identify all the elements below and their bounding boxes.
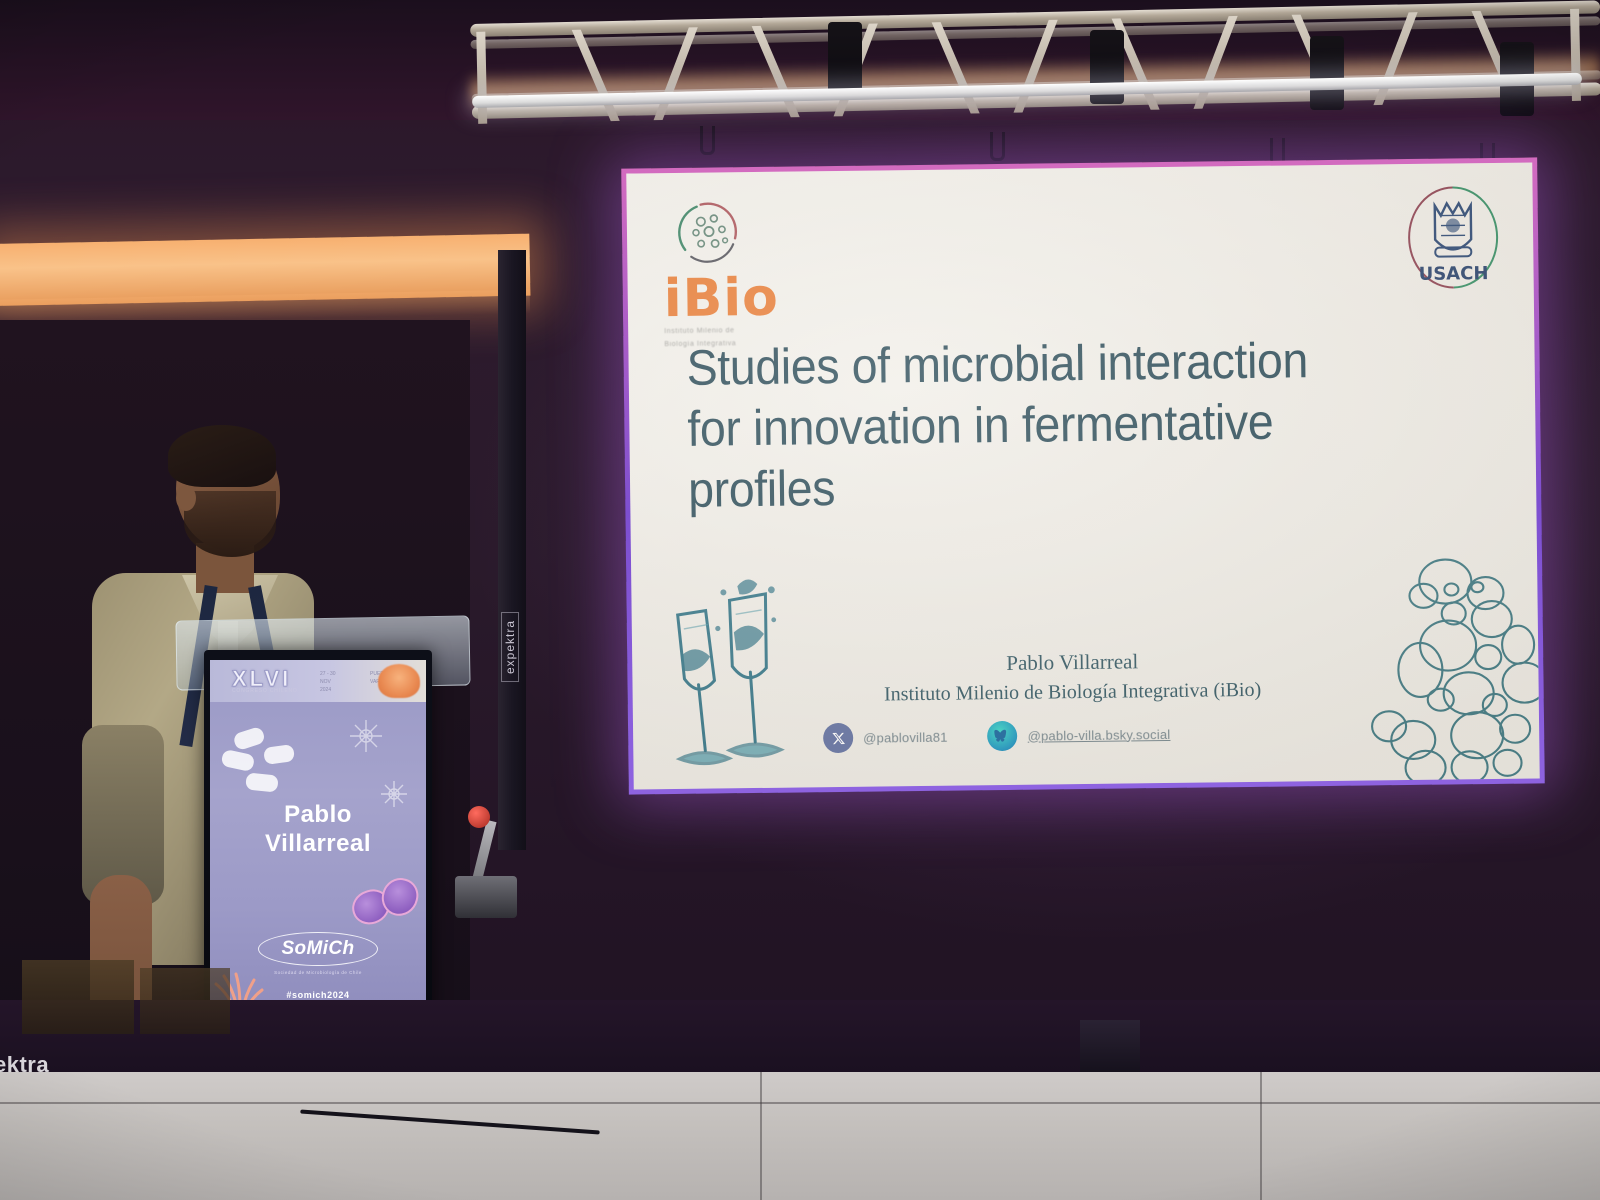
bacteria-cells-icon xyxy=(352,878,416,924)
ibio-wordmark: iBio xyxy=(664,273,835,324)
stage-floor xyxy=(0,1072,1600,1200)
social-x[interactable]: @pablovilla81 xyxy=(823,722,948,754)
truss-clamp xyxy=(828,22,862,96)
pole-lever-knob[interactable] xyxy=(468,806,490,828)
coral-illustration-icon xyxy=(378,664,420,698)
bluesky-handle[interactable]: @pablo-villa.bsky.social xyxy=(1028,726,1171,743)
lower-wall xyxy=(0,1000,1600,1078)
usach-logo: USACH xyxy=(1400,181,1505,298)
usach-wordmark: USACH xyxy=(1419,263,1489,285)
projection-screen-frame: iBio Instituto Milenio de Biología Integ… xyxy=(621,157,1545,794)
expektra-label-text: expektra xyxy=(501,612,519,682)
author-affiliation: Instituto Milenio de Biología Integrativ… xyxy=(812,675,1332,710)
congress-month: NOV xyxy=(320,678,336,686)
slide-title: Studies of microbial interaction for inn… xyxy=(686,329,1432,521)
podium-speaker-name: Pablo Villarreal xyxy=(210,800,426,859)
speaker-beard xyxy=(184,491,276,557)
conference-photo-scene: iBio Instituto Milenio de Biología Integ… xyxy=(0,0,1600,1200)
somich-wordmark: SoMiCh xyxy=(258,932,377,966)
slide-title-line-1: Studies of microbial interaction xyxy=(686,329,1431,399)
ibio-logo: iBio Instituto Milenio de Biología Integ… xyxy=(663,193,835,349)
expektra-pole-label: expektra xyxy=(496,588,524,706)
budding-yeast-cells-icon xyxy=(1327,552,1540,785)
social-handles: @pablovilla81 @pablo-villa.bsky.social xyxy=(823,717,1323,753)
congress-year: 2024 xyxy=(320,686,336,694)
toasting-wine-glasses-icon xyxy=(653,571,816,783)
x-handle[interactable]: @pablovilla81 xyxy=(863,729,948,745)
podium-speaker-firstname: Pablo xyxy=(210,800,426,829)
stage-equipment-box xyxy=(1080,1020,1140,1076)
congress-subtitle: CONGRESO CHILENO xyxy=(232,688,298,694)
petri-dish-icon xyxy=(671,194,750,273)
podium-display: XLVI CONGRESO CHILENO 27 - 30 NOV 2024 P… xyxy=(210,660,426,1012)
social-bluesky[interactable]: @pablo-villa.bsky.social xyxy=(987,719,1170,751)
congress-meta: 27 - 30 NOV 2024 xyxy=(320,670,336,694)
bluesky-icon[interactable] xyxy=(987,721,1017,751)
congress-dates: 27 - 30 xyxy=(320,670,336,678)
x-twitter-icon[interactable] xyxy=(823,723,853,753)
presentation-slide: iBio Instituto Milenio de Biología Integ… xyxy=(626,162,1539,789)
podium-banner: XLVI CONGRESO CHILENO 27 - 30 NOV 2024 P… xyxy=(210,660,426,702)
author-block: Pablo Villarreal Instituto Milenio de Bi… xyxy=(812,645,1333,710)
speaker-hair xyxy=(168,425,276,487)
stage-crate xyxy=(140,968,230,1034)
speaker-ear xyxy=(176,485,196,511)
truss-clamp xyxy=(1310,36,1344,110)
podium-speaker-lastname: Villarreal xyxy=(210,829,426,858)
stage-crate xyxy=(22,960,134,1034)
podium-monitor-bezel: XLVI CONGRESO CHILENO 27 - 30 NOV 2024 P… xyxy=(204,650,432,1022)
pole-lever-base xyxy=(455,876,517,918)
lighting-truss xyxy=(470,0,1600,136)
ibio-subtitle-line-1: Instituto Milenio de xyxy=(664,325,834,337)
stage-pole xyxy=(498,250,526,850)
slide-title-line-3: profiles xyxy=(688,451,1433,521)
slide-title-line-2: for innovation in fermentative xyxy=(687,390,1432,460)
